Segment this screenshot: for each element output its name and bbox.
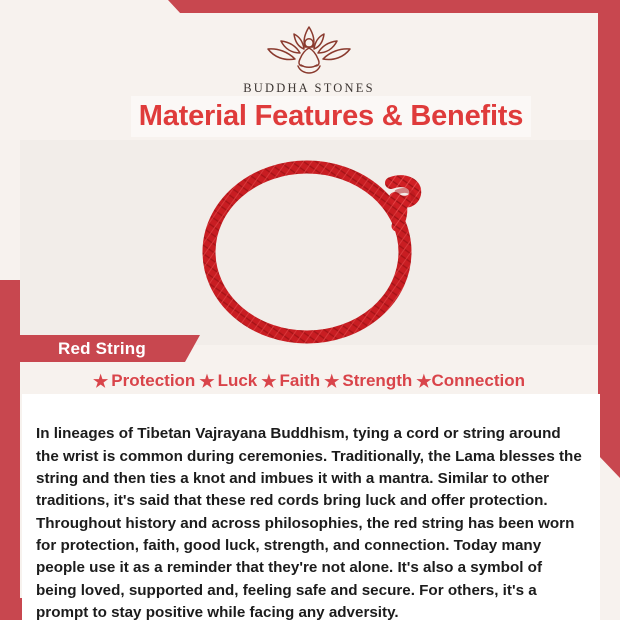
benefit-label: Protection bbox=[111, 371, 195, 391]
benefit-label: Strength bbox=[342, 371, 412, 391]
star-icon: ★ bbox=[199, 373, 214, 390]
brand-logo: BUDDHA STONES bbox=[20, 21, 598, 96]
star-icon: ★ bbox=[93, 373, 108, 390]
frame-left-bar bbox=[0, 280, 20, 620]
description-panel: In lineages of Tibetan Vajrayana Buddhis… bbox=[22, 394, 600, 620]
page-title-text: Material Features & Benefits bbox=[139, 100, 523, 133]
description-text: In lineages of Tibetan Vajrayana Buddhis… bbox=[36, 423, 584, 620]
frame-top-bar bbox=[0, 0, 620, 14]
star-icon: ★ bbox=[324, 373, 339, 390]
benefit-item-strength: ★ Strength bbox=[324, 371, 412, 391]
lotus-meditation-figure-icon bbox=[254, 21, 364, 79]
benefit-item-connection: ★ Connection bbox=[416, 371, 525, 391]
red-string-braided-bracelet-icon bbox=[169, 140, 449, 345]
frame-right-bar bbox=[598, 0, 620, 478]
product-photo bbox=[20, 140, 598, 345]
benefit-label: Faith bbox=[280, 371, 321, 391]
benefit-label: Connection bbox=[432, 371, 526, 391]
page-body: BUDDHA STONES Material Features & Benefi… bbox=[20, 13, 598, 598]
benefit-item-luck: ★ Luck bbox=[199, 371, 257, 391]
benefits-row: ★ Protection ★ Luck ★ Faith ★ Strength ★… bbox=[20, 371, 598, 391]
infographic-card: BUDDHA STONES Material Features & Benefi… bbox=[0, 0, 620, 620]
brand-wordmark: BUDDHA STONES bbox=[20, 81, 598, 96]
benefit-item-protection: ★ Protection bbox=[93, 371, 195, 391]
benefit-label: Luck bbox=[218, 371, 258, 391]
benefit-item-faith: ★ Faith bbox=[261, 371, 320, 391]
product-tag: Red String bbox=[20, 335, 200, 362]
page-title: Material Features & Benefits bbox=[131, 96, 531, 137]
product-tag-label: Red String bbox=[20, 339, 146, 359]
star-icon: ★ bbox=[416, 373, 431, 390]
star-icon: ★ bbox=[261, 373, 276, 390]
